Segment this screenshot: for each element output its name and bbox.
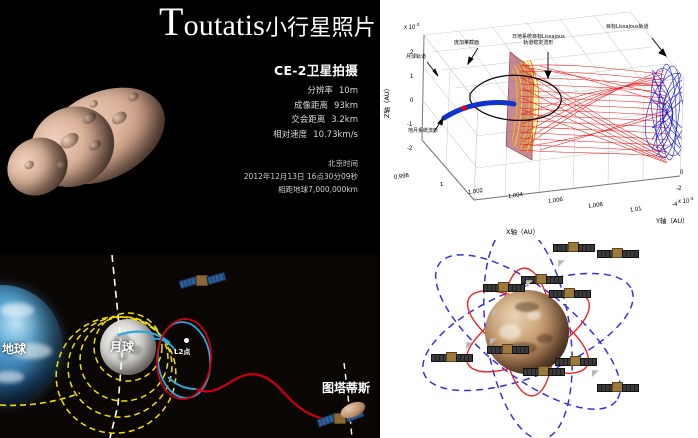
spec-key: 相对速度 [273, 128, 307, 143]
annotation-em-manifold: 地月系统流形 [408, 128, 438, 134]
spec-value: 10.73km/s [313, 128, 358, 143]
ground-antenna-icon: ◤ [592, 368, 599, 379]
time-line: 2012年12月13日 16点30分09秒 [244, 171, 358, 184]
x-axis-label: X轴（AU） [506, 226, 539, 236]
ground-antenna-icon: ◤ [490, 336, 497, 347]
z-axis-label: Z轴（AU） [381, 85, 391, 118]
spec-key: 成像距离 [294, 99, 328, 114]
title-chinese: 小行星照片 [265, 16, 376, 41]
transfer-trajectory-panel: 地球 月球 图塔蒂斯 L2点 [0, 255, 380, 438]
earth-marker [461, 105, 466, 110]
photo-title: Toutatis小行星照片 [140, 2, 376, 42]
spec-value: 10m [339, 84, 358, 99]
ground-antenna-icon: ◤ [492, 308, 499, 319]
earth-label: 地球 [2, 340, 26, 357]
phasing-orbit-2 [59, 307, 182, 426]
y-tick: 0 [680, 170, 683, 176]
spec-value: 93km [334, 99, 358, 114]
ground-antenna-icon: ◤ [526, 278, 533, 289]
ground-antenna-icon: ◤ [558, 258, 565, 269]
l2-point-label: L2点 [174, 347, 190, 357]
annotation-line-2: 轨道稳定流形 [512, 40, 565, 46]
transfer-trajectory-red [196, 374, 336, 419]
constellation-panel: ◤ ◤ ◤ ◤ ◤ ◤ [380, 240, 698, 438]
spec-row: 相对速度10.73km/s [273, 128, 358, 143]
spec-key: 交会距离 [291, 113, 325, 128]
time-line: 北京时间 [244, 158, 358, 171]
ground-antenna-icon: ◤ [466, 340, 473, 351]
y-axis-label: Y轴（AU） [656, 215, 689, 225]
asteroid-body [0, 32, 223, 255]
annotation-se-stable-manifold: 日地系统目标Lissajous 轨道稳定流形 [512, 34, 565, 47]
spec-list: 分辨率10m 成像距离93km 交会距离3.2km 相对速度10.73km/s [273, 84, 358, 142]
capture-time-block: 北京时间 2012年12月13日 16点30分09秒 相距地球7,000,000… [244, 158, 358, 196]
spec-row: 成像距离93km [273, 99, 358, 114]
annotation-poincare-section: 庞加莱截面 [454, 40, 479, 46]
annotation-target-lissajous: 目标Lissajous轨道 [606, 24, 649, 30]
stable-manifold-red [520, 64, 668, 163]
spec-value: 3.2km [331, 113, 358, 128]
z-axis-exponent: x 10-3 [404, 22, 419, 31]
earth-departure-leg [0, 393, 80, 405]
l2-point-marker [184, 338, 189, 343]
x-tick: 1 [440, 182, 444, 188]
target-label: 图塔蒂斯 [322, 379, 370, 396]
spec-key: 分辨率 [307, 84, 333, 99]
title-initial: T [159, 0, 184, 44]
moon-label: 月球 [110, 338, 134, 355]
z-tick: 0 [410, 98, 413, 104]
y-axis-exponent: x 10-3 [678, 196, 693, 205]
target-reference-line [344, 363, 352, 438]
z-tick: -2 [407, 146, 412, 152]
spec-row: 交会距离3.2km [273, 113, 358, 128]
annotation-lunar-orbit: 月球轨道 [406, 54, 426, 60]
spec-row: 分辨率10m [273, 84, 358, 99]
z-tick: 1 [410, 74, 413, 80]
screenshot-root: Toutatis小行星照片 CE-2卫星拍摄 分辨率10m 成像距离93km 交… [0, 0, 698, 438]
title-latin: outatis [184, 9, 265, 42]
satellite-capture-label: CE-2卫星拍摄 [274, 60, 358, 79]
l2-halo-red [154, 317, 213, 401]
y-tick: -4 [672, 202, 677, 208]
asteroid-photo-panel: Toutatis小行星照片 CE-2卫星拍摄 分辨率10m 成像距离93km 交… [0, 0, 380, 255]
y-tick: -2 [676, 186, 681, 192]
manifold-plot-panel: x 10-3 2 1 0 -1 -2 Z轴（AU） 0.998 1 1.002 … [380, 0, 698, 240]
time-line: 相距地球7,000,000km [244, 184, 358, 197]
